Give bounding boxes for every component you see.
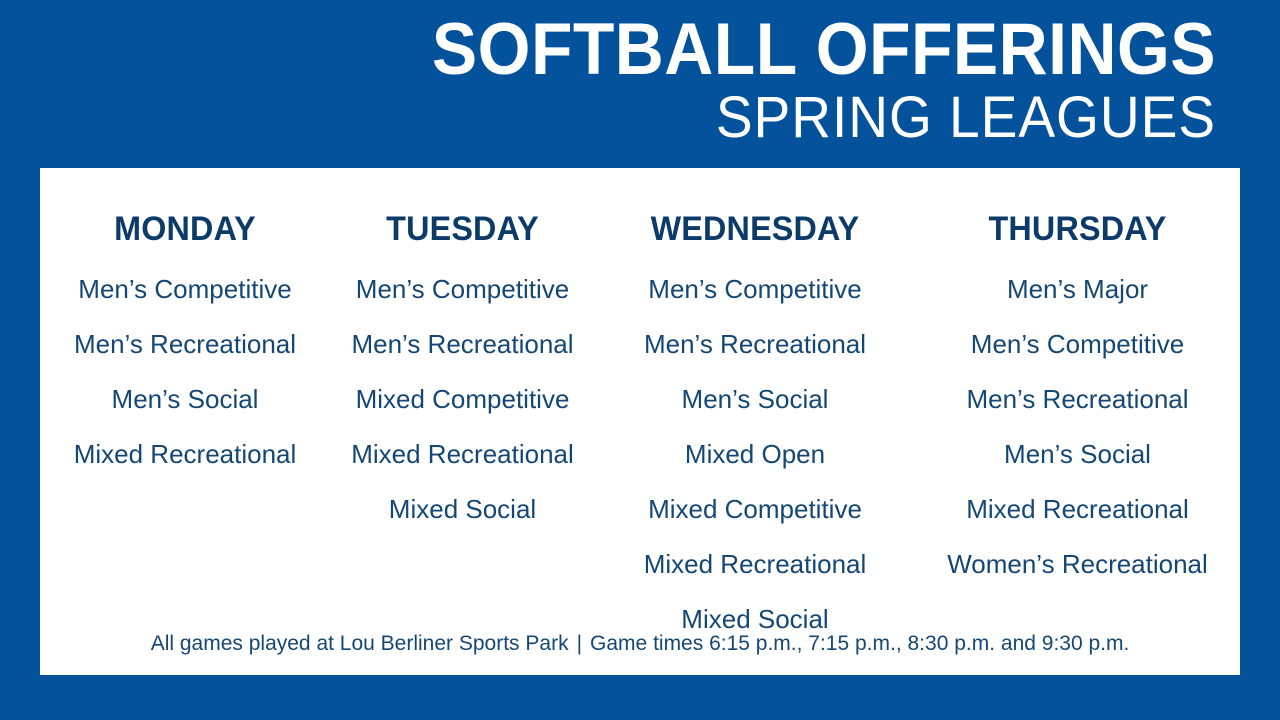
- day-column-thursday: THURSDAY Men’s Major Men’s Competitive M…: [915, 168, 1240, 647]
- league-list-monday: Men’s Competitive Men’s Recreational Men…: [40, 262, 330, 482]
- list-item: Men’s Recreational: [330, 317, 595, 372]
- list-item: Men’s Major: [915, 262, 1240, 317]
- list-item: Men’s Recreational: [915, 372, 1240, 427]
- league-list-tuesday: Men’s Competitive Men’s Recreational Mix…: [330, 262, 595, 537]
- day-column-tuesday: TUESDAY Men’s Competitive Men’s Recreati…: [330, 168, 595, 647]
- list-item: Men’s Social: [40, 372, 330, 427]
- day-header-tuesday: TUESDAY: [337, 168, 589, 246]
- footnote-venue: All games played at Lou Berliner Sports …: [151, 632, 569, 655]
- footnote-times: Game times 6:15 p.m., 7:15 p.m., 8:30 p.…: [590, 632, 1129, 655]
- list-item: Women’s Recreational: [915, 537, 1240, 592]
- list-item: Mixed Competitive: [330, 372, 595, 427]
- list-item: Mixed Competitive: [595, 482, 915, 537]
- league-list-thursday: Men’s Major Men’s Competitive Men’s Recr…: [915, 262, 1240, 592]
- list-item: Mixed Social: [330, 482, 595, 537]
- day-header-thursday: THURSDAY: [923, 168, 1232, 246]
- poster-masthead: SOFTBALL OFFERINGS SPRING LEAGUES: [0, 0, 1248, 168]
- softball-offerings-poster: SOFTBALL OFFERINGS SPRING LEAGUES MONDAY…: [0, 0, 1280, 720]
- schedule-card: MONDAY Men’s Competitive Men’s Recreatio…: [40, 168, 1240, 675]
- list-item: Mixed Recreational: [330, 427, 595, 482]
- list-item: Men’s Competitive: [595, 262, 915, 317]
- list-item: Mixed Open: [595, 427, 915, 482]
- day-column-monday: MONDAY Men’s Competitive Men’s Recreatio…: [40, 168, 330, 647]
- page-title: SOFTBALL OFFERINGS: [85, 12, 1216, 88]
- footnote: All games played at Lou Berliner Sports …: [40, 632, 1240, 656]
- day-column-wednesday: WEDNESDAY Men’s Competitive Men’s Recrea…: [595, 168, 915, 647]
- day-header-monday: MONDAY: [47, 168, 323, 246]
- list-item: Men’s Competitive: [40, 262, 330, 317]
- list-item: Mixed Recreational: [595, 537, 915, 592]
- footnote-separator: |: [569, 632, 590, 655]
- list-item: Men’s Social: [595, 372, 915, 427]
- list-item: Men’s Competitive: [915, 317, 1240, 372]
- day-header-wednesday: WEDNESDAY: [603, 168, 907, 246]
- list-item: Mixed Recreational: [40, 427, 330, 482]
- league-list-wednesday: Men’s Competitive Men’s Recreational Men…: [595, 262, 915, 647]
- list-item: Men’s Recreational: [40, 317, 330, 372]
- list-item: Men’s Social: [915, 427, 1240, 482]
- page-subtitle: SPRING LEAGUES: [61, 88, 1216, 148]
- schedule-columns: MONDAY Men’s Competitive Men’s Recreatio…: [40, 168, 1240, 647]
- list-item: Mixed Recreational: [915, 482, 1240, 537]
- list-item: Men’s Recreational: [595, 317, 915, 372]
- list-item: Men’s Competitive: [330, 262, 595, 317]
